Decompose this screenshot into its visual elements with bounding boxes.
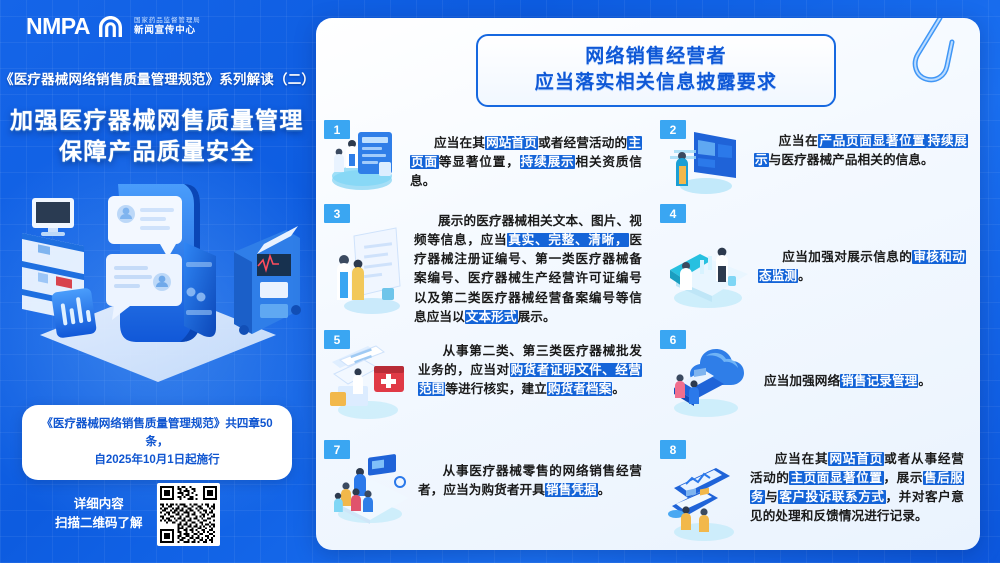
item-4-badge: 4 [660, 204, 686, 223]
documents-medical-kit-icon [324, 340, 414, 422]
highlight: 主页面显著位置 [789, 471, 883, 485]
item-4-text: 应当加强对展示信息的审核和动态监测。 [758, 248, 966, 286]
seg: 。 [918, 374, 931, 388]
item-6: 6 应当加强网络销售记录管理。 [654, 328, 978, 438]
card-title: 网络销售经营者 应当落实相关信息披露要求 [476, 34, 836, 107]
notice-line-1: 《医疗器械网络销售质量管理规范》共四章50条， [36, 416, 278, 452]
highlight: 真实、完整、清晰， [507, 233, 629, 247]
highlight: 网站首页 [485, 136, 538, 150]
item-8: 8 应当在其网站首页或者从事经营活动的主页面显著位置，展示售后服务与客户投诉联系… [654, 438, 978, 550]
seg: 应当加强对展示信息的 [782, 250, 912, 264]
headline-line-2: 保障产品质量安全 [0, 136, 314, 167]
nmpa-logo: NMPA 国家药品监督管理局 新闻宣传中心 [26, 14, 201, 39]
seg: 展示。 [518, 310, 556, 324]
seg: 应当在其 [434, 136, 485, 150]
highlight: 产品页面显著位置 [818, 134, 926, 148]
item-1: 1 应当在其网站首页或者经营活动的主页面等显著位置，持续展示相关资质信息。 [318, 118, 654, 202]
item-3-badge: 3 [324, 204, 350, 223]
item-8-badge: 8 [660, 440, 686, 459]
seg: 应当在 [778, 134, 818, 148]
nmpa-logo-chinese: 国家药品监督管理局 新闻宣传中心 [134, 18, 201, 36]
qr-label-line-1: 详细内容 [55, 495, 143, 514]
seg: 或者经营活动的 [538, 136, 627, 150]
regulation-notice-box: 《医疗器械网络销售质量管理规范》共四章50条， 自2025年10月1日起施行 [22, 405, 292, 480]
notice-line-2: 自2025年10月1日起施行 [36, 452, 278, 470]
nmpa-logo-text: NMPA [26, 15, 90, 38]
clipboard-two-doctors-icon [324, 224, 410, 316]
paperclip-icon [900, 18, 958, 94]
seg: 等进行核实，建立 [445, 382, 547, 396]
items-grid: 1 应当在其网站首页或者经营活动的主页面等显著位置，持续展示相关资质信息。 [316, 118, 980, 550]
card-title-line-1: 网络销售经营者 [482, 44, 830, 70]
medical-equipment-illustration [8, 170, 308, 385]
main-headline: 加强医疗器械网售质量管理 保障产品质量安全 [0, 105, 314, 167]
cloud-laptop-people-icon [660, 342, 756, 422]
seg: ，展示 [884, 471, 923, 485]
item-2-badge: 2 [660, 120, 686, 139]
seg: 与 [765, 490, 778, 504]
content-card: 网络销售经营者 应当落实相关信息披露要求 1 [316, 18, 980, 550]
series-subtitle: 《医疗器械网络销售质量管理规范》系列解读（二） [0, 68, 314, 88]
item-7-text: 从事医疗器械零售的网络销售经营者，应当为购货者开具销售凭据。 [418, 462, 642, 500]
item-1-text: 应当在其网站首页或者经营活动的主页面等显著位置，持续展示相关资质信息。 [410, 134, 642, 191]
highlight: 持续展示 [520, 155, 576, 169]
item-6-text: 应当加强网络销售记录管理。 [764, 372, 964, 391]
highlight: 客户投诉联系方式 [778, 490, 885, 504]
item-5: 5 从事第二类、第三类医疗器械批发业务的，应当对购货者证明文件 [318, 328, 654, 438]
nmpa-arch-icon [97, 14, 124, 39]
item-7: 7 从事医疗器械零售的网络销售经营者，应当为购货者开具销售凭据。 [318, 438, 654, 550]
item-8-text: 应当在其网站首页或者从事经营活动的主页面显著位置，展示售后服务与客户投诉联系方式… [750, 450, 964, 527]
meeting-people-presentation-icon [324, 452, 418, 528]
highlight: 文本形式 [465, 310, 518, 324]
item-5-badge: 5 [324, 330, 350, 349]
qr-code-icon[interactable] [157, 483, 220, 546]
left-panel: NMPA 国家药品监督管理局 新闻宣传中心 《医疗器械网络销售质量管理规范》系列… [0, 0, 314, 563]
item-5-text: 从事第二类、第三类医疗器械批发业务的，应当对购货者证明文件、经营范围等进行核实，… [418, 342, 642, 399]
item-4: 4 应当加强对展示信息的审核和动态监测。 [654, 202, 978, 328]
item-2-text: 应当在产品页面显著位置持续展示与医疗器械产品相关的信息。 [754, 132, 968, 170]
seg: 等显著位置， [439, 155, 520, 169]
seg: 。 [612, 382, 625, 396]
highlight: 销售记录管理 [840, 374, 918, 388]
seg: 。 [798, 269, 811, 283]
seg: 应当加强网络 [764, 374, 840, 388]
qr-label: 详细内容 扫描二维码了解 [55, 495, 143, 534]
seg: 应当在其 [774, 452, 828, 466]
highlight: 销售凭据 [545, 483, 598, 497]
headline-line-1: 加强医疗器械网售质量管理 [0, 105, 314, 136]
item-3: 3 展示的医疗器械相关文本、图片、视频等信息，应当真实、完整、清晰，医疗器械注册… [318, 202, 654, 328]
card-title-line-2: 应当落实相关信息披露要求 [482, 70, 830, 96]
item-1-badge: 1 [324, 120, 350, 139]
seg: 。 [598, 483, 611, 497]
qr-block: 详细内容 扫描二维码了解 [55, 480, 275, 548]
dashboard-screens-people-icon [660, 462, 746, 544]
item-3-text: 展示的医疗器械相关文本、图片、视频等信息，应当真实、完整、清晰，医疗器械注册证编… [414, 212, 642, 327]
highlight: 购货者档案 [547, 382, 612, 396]
highlight: 网站首页 [828, 452, 884, 466]
seg: 与医疗器械产品相关的信息。 [769, 153, 934, 167]
item-6-badge: 6 [660, 330, 686, 349]
item-7-badge: 7 [324, 440, 350, 459]
infographic-root: NMPA 国家药品监督管理局 新闻宣传中心 《医疗器械网络销售质量管理规范》系列… [0, 0, 1000, 563]
item-2: 2 应当在产品页面显著位置持续展示与医疗器械产品相关的信息。 [654, 118, 978, 202]
lab-worker-inspection-icon [660, 240, 758, 312]
qr-label-line-2: 扫描二维码了解 [55, 514, 143, 533]
